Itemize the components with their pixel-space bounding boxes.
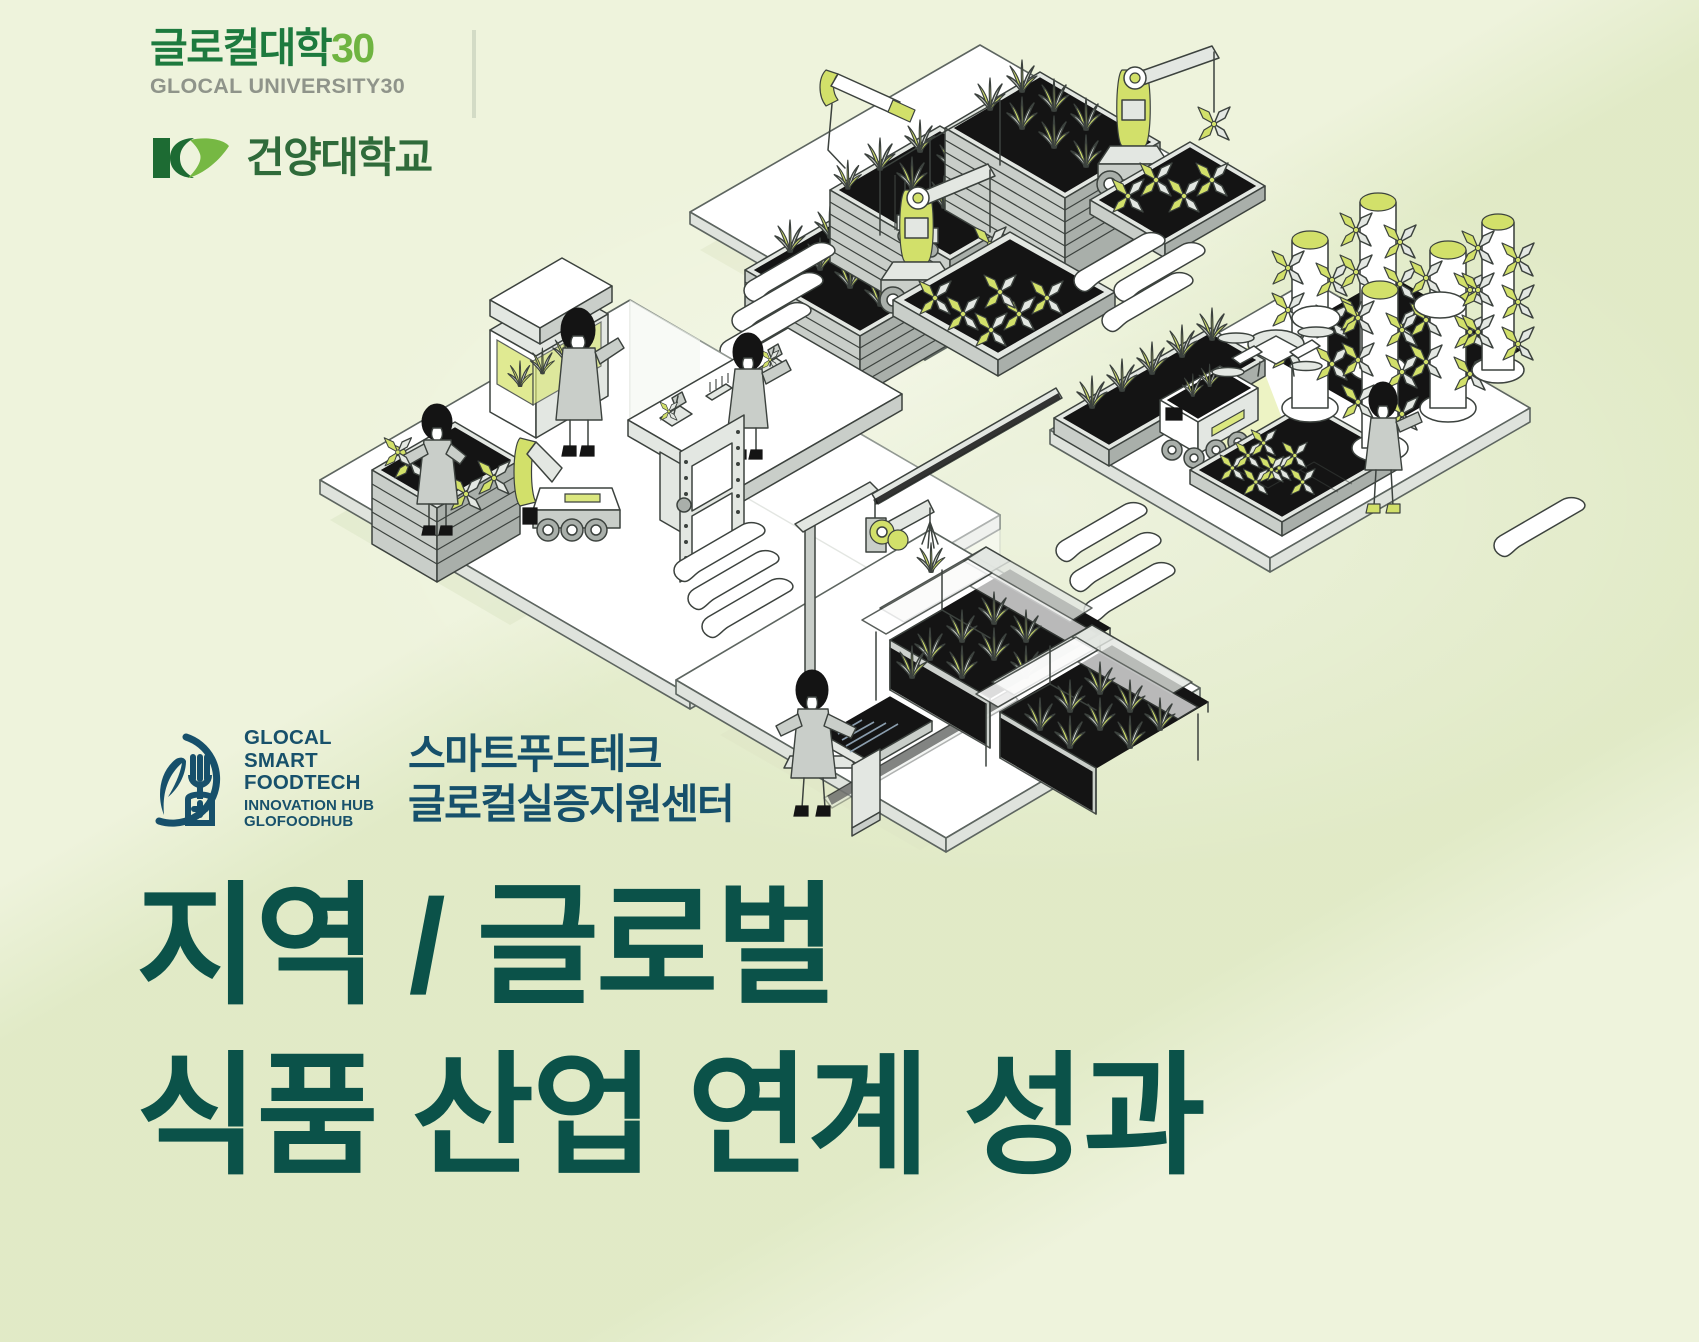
mobile-harvest-robot <box>1097 46 1230 197</box>
center-name: 스마트푸드테크 글로컬실증지원센터 <box>408 729 733 829</box>
a-frame-greenhouse <box>862 547 1110 748</box>
grow-trough <box>1054 308 1265 466</box>
hydroponic-bed <box>1190 402 1400 536</box>
center-name-line1: 스마트푸드테크 <box>408 729 733 779</box>
microscope <box>660 392 692 426</box>
growth-chamber <box>490 258 612 438</box>
mobile-robot-arm <box>514 438 620 541</box>
lab-worker <box>384 404 466 535</box>
headline-line2: 식품 산업 연계 성과 <box>136 1032 1204 1202</box>
microscope <box>756 344 788 378</box>
control-panel-display <box>824 697 932 836</box>
inspection-drone <box>1212 327 1334 377</box>
capsule-pods <box>1056 233 1585 622</box>
gfh-line-glofoodhub: GLOFOODHUB <box>244 814 374 829</box>
seedling-tray <box>1090 142 1265 258</box>
gfh-line-smart: SMART <box>244 751 374 772</box>
sample-vials <box>706 373 732 400</box>
logo-divider <box>472 30 476 118</box>
gfh-line-glocal: GLOCAL <box>244 728 374 749</box>
aeroponic-towers <box>1272 188 1534 462</box>
glocal-university-english: GLOCAL UNIVERSITY30 <box>150 74 450 99</box>
researcher-male <box>728 333 791 459</box>
stacked-grow-rack <box>745 206 960 396</box>
aeroponic-tower-platform <box>1050 188 1534 572</box>
vertical-farm-platform <box>690 45 1265 396</box>
university-name: 건양대학교 <box>246 137 432 179</box>
operator-female <box>776 670 856 816</box>
center-name-line2: 글로컬실증지원센터 <box>408 779 733 829</box>
harvest-gripper <box>870 500 945 572</box>
glofoodhub-wordmark: GLOCAL SMART FOODTECH INNOVATION HUB GLO… <box>244 728 374 830</box>
airlock-door <box>677 415 744 582</box>
top-logo-lockup: 글로컬대학30 GLOCAL UNIVERSITY30 건양대학교 <box>150 28 610 182</box>
gantry-robot-frame <box>880 100 1000 257</box>
gantry-post <box>784 482 1018 808</box>
headline-line1: 지역 / 글로벌 <box>136 862 1204 1032</box>
lab-platform <box>320 258 1000 709</box>
a-frame-greenhouse <box>976 625 1208 814</box>
seedling-tray <box>893 232 1115 376</box>
stacked-grow-rack <box>945 60 1160 280</box>
gfh-line-innovation-hub: INNOVATION HUB <box>244 798 374 813</box>
lab-bench <box>628 328 902 543</box>
capsule-pods <box>674 523 793 638</box>
glocal-university-korean: 글로컬대학30 <box>150 28 450 69</box>
gantry-robot-arm <box>820 70 915 189</box>
page-title: 지역 / 글로벌 식품 산업 연계 성과 <box>136 862 1204 1202</box>
stacked-grow-rack <box>830 120 1060 332</box>
mobile-harvest-robot <box>880 164 1006 313</box>
capsule-pods <box>662 515 753 574</box>
capsule-pods <box>720 243 1205 362</box>
gfh-line-foodtech: FOODTECH <box>244 773 374 794</box>
glocal-university-korean-text: 글로컬대학 <box>150 25 331 71</box>
delivery-robot <box>1160 364 1258 468</box>
overhead-gantry-rail <box>866 388 1062 572</box>
leaf-fork-plus-circle-icon <box>138 731 234 827</box>
glocal-university-number: 30 <box>331 25 374 71</box>
ky-university-mark-icon <box>150 134 232 182</box>
technician-female <box>1365 382 1422 513</box>
grow-bed-rack <box>372 422 520 582</box>
center-logo-lockup: GLOCAL SMART FOODTECH INNOVATION HUB GLO… <box>138 728 733 830</box>
researcher-female <box>556 308 624 456</box>
greenhouse-platform <box>676 388 1208 852</box>
